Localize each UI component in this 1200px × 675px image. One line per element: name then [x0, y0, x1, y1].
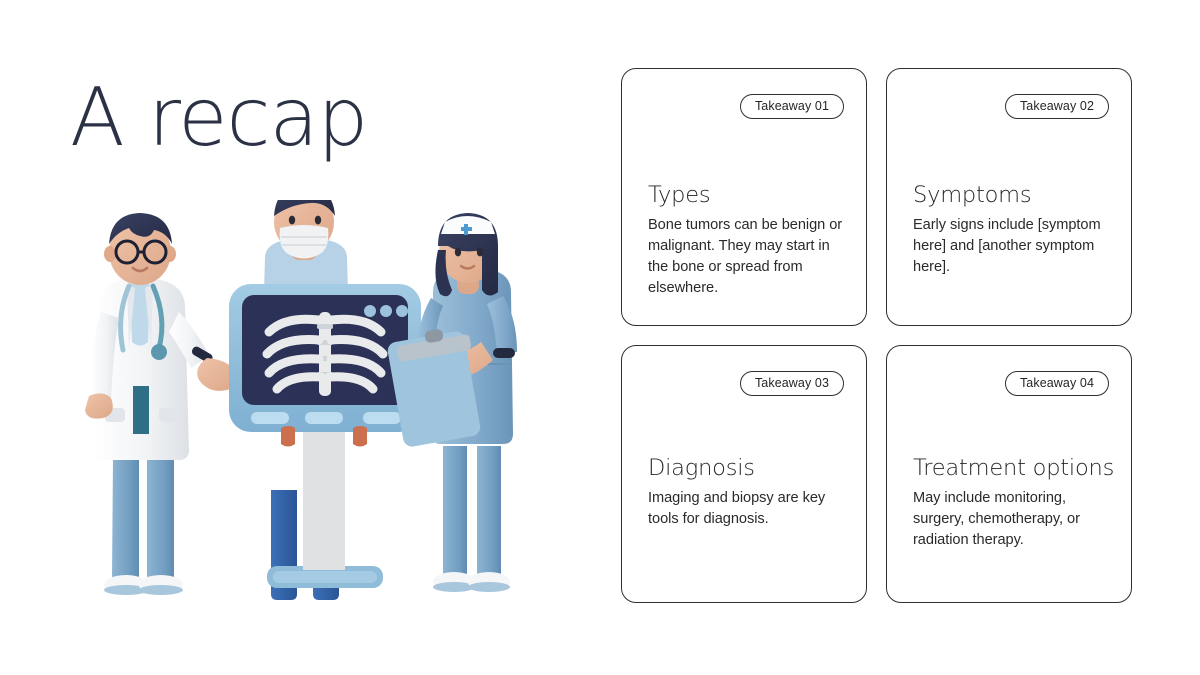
card-text-diagnosis: Imaging and biopsy are key tools for dia…: [648, 488, 846, 530]
takeaway-card-04[interactable]: Takeaway 04 Treatment options May includ…: [886, 345, 1132, 603]
xray-monitor: [229, 284, 421, 588]
doctor-character: [85, 213, 237, 595]
card-text-types: Bone tumors can be benign or malignant. …: [648, 215, 846, 299]
card-heading-symptoms: Symptoms: [913, 181, 1111, 209]
card-body-04: Treatment options May include monitoring…: [913, 454, 1111, 551]
card-body-02: Symptoms Early signs include [symptom he…: [913, 181, 1111, 278]
status-badge-takeaway-02: Takeaway 02: [1005, 94, 1109, 119]
status-badge-takeaway-03: Takeaway 03: [740, 371, 844, 396]
card-heading-treatment-options: Treatment options: [913, 454, 1111, 482]
takeaway-cards-grid: Takeaway 01 Types Bone tumors can be ben…: [621, 68, 1145, 605]
left-panel: A recap: [0, 0, 600, 675]
card-text-symptoms: Early signs include [symptom here] and […: [913, 215, 1111, 278]
card-text-treatment-options: May include monitoring, surgery, chemoth…: [913, 488, 1111, 551]
status-badge-takeaway-01: Takeaway 01: [740, 94, 844, 119]
card-heading-types: Types: [648, 181, 846, 209]
card-body-03: Diagnosis Imaging and biopsy are key too…: [648, 454, 846, 530]
takeaway-card-01[interactable]: Takeaway 01 Types Bone tumors can be ben…: [621, 68, 867, 326]
page-title: A recap: [70, 78, 367, 158]
takeaway-card-02[interactable]: Takeaway 02 Symptoms Early signs include…: [886, 68, 1132, 326]
medical-team-illustration: [75, 200, 575, 600]
status-badge-takeaway-04: Takeaway 04: [1005, 371, 1109, 396]
card-heading-diagnosis: Diagnosis: [648, 454, 846, 482]
nurse-character: [386, 213, 517, 592]
card-body-01: Types Bone tumors can be benign or malig…: [648, 181, 846, 299]
takeaway-card-03[interactable]: Takeaway 03 Diagnosis Imaging and biopsy…: [621, 345, 867, 603]
slide-canvas: A recap: [0, 0, 1200, 675]
